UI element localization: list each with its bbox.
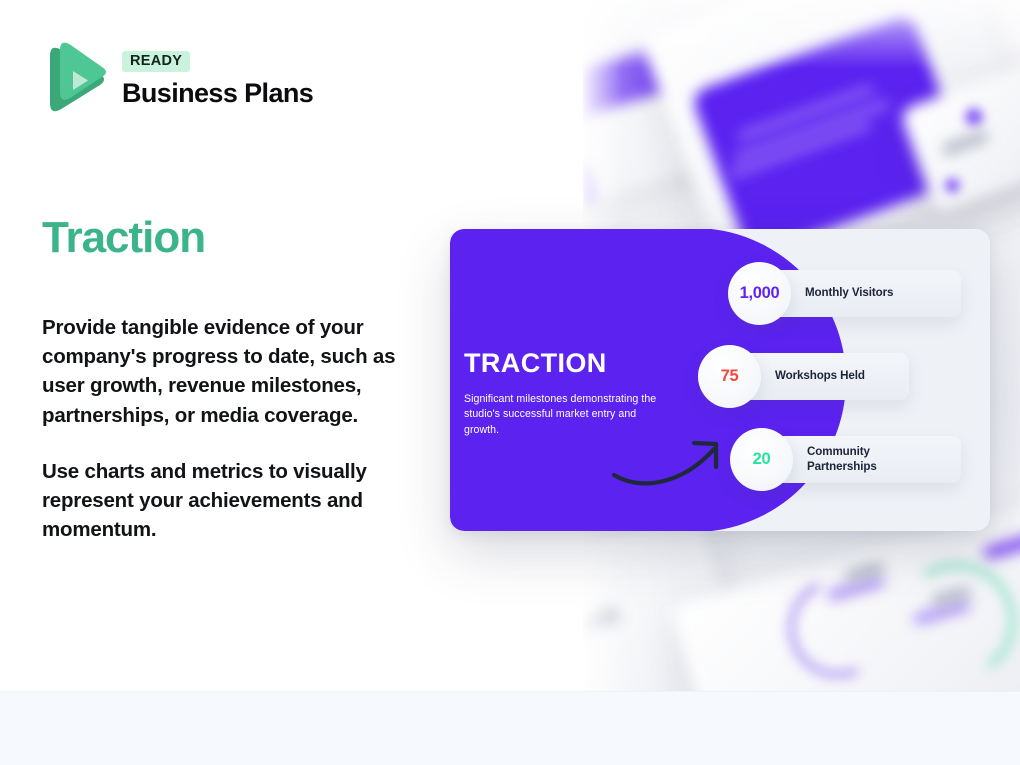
slide-preview-page: READY Business Plans Traction Provide ta… (0, 0, 1020, 765)
metric-label: Community Partnerships (807, 445, 877, 473)
left-content: Traction Provide tangible evidence of yo… (42, 215, 442, 544)
body-paragraph-1: Provide tangible evidence of your compan… (42, 313, 442, 429)
metric-bubble: 1,000 (728, 262, 791, 325)
brand-text: READY Business Plans (122, 49, 313, 109)
play-triangle-logo-icon (42, 40, 106, 118)
page-title: Traction (42, 215, 442, 261)
metric-value: 75 (721, 368, 739, 385)
brand-logo[interactable]: READY Business Plans (42, 40, 313, 118)
bg-dot (965, 108, 983, 126)
traction-slide-card[interactable]: TRACTION Significant milestones demonstr… (450, 229, 990, 531)
bottom-band (0, 691, 1020, 765)
metrics-list: Monthly Visitors 1,000 Workshops Held 75… (728, 262, 978, 502)
metric-bubble: 20 (730, 428, 793, 491)
slide-heading-group: TRACTION Significant milestones demonstr… (464, 350, 674, 438)
metric-value: 1,000 (740, 285, 780, 302)
slide-title: TRACTION (464, 350, 674, 377)
metric-bubble: 75 (698, 345, 761, 408)
metric-pill: Monthly Visitors (761, 270, 961, 317)
metric-value: 20 (753, 451, 771, 468)
body-paragraph-2: Use charts and metrics to visually repre… (42, 457, 442, 544)
brand-name: Business Plans (122, 79, 313, 109)
bg-dot (945, 178, 960, 193)
metric-label: Workshops Held (775, 369, 865, 383)
metric-label: Monthly Visitors (805, 286, 893, 300)
curved-up-right-arrow-icon (610, 429, 735, 491)
ready-badge: READY (122, 51, 190, 73)
